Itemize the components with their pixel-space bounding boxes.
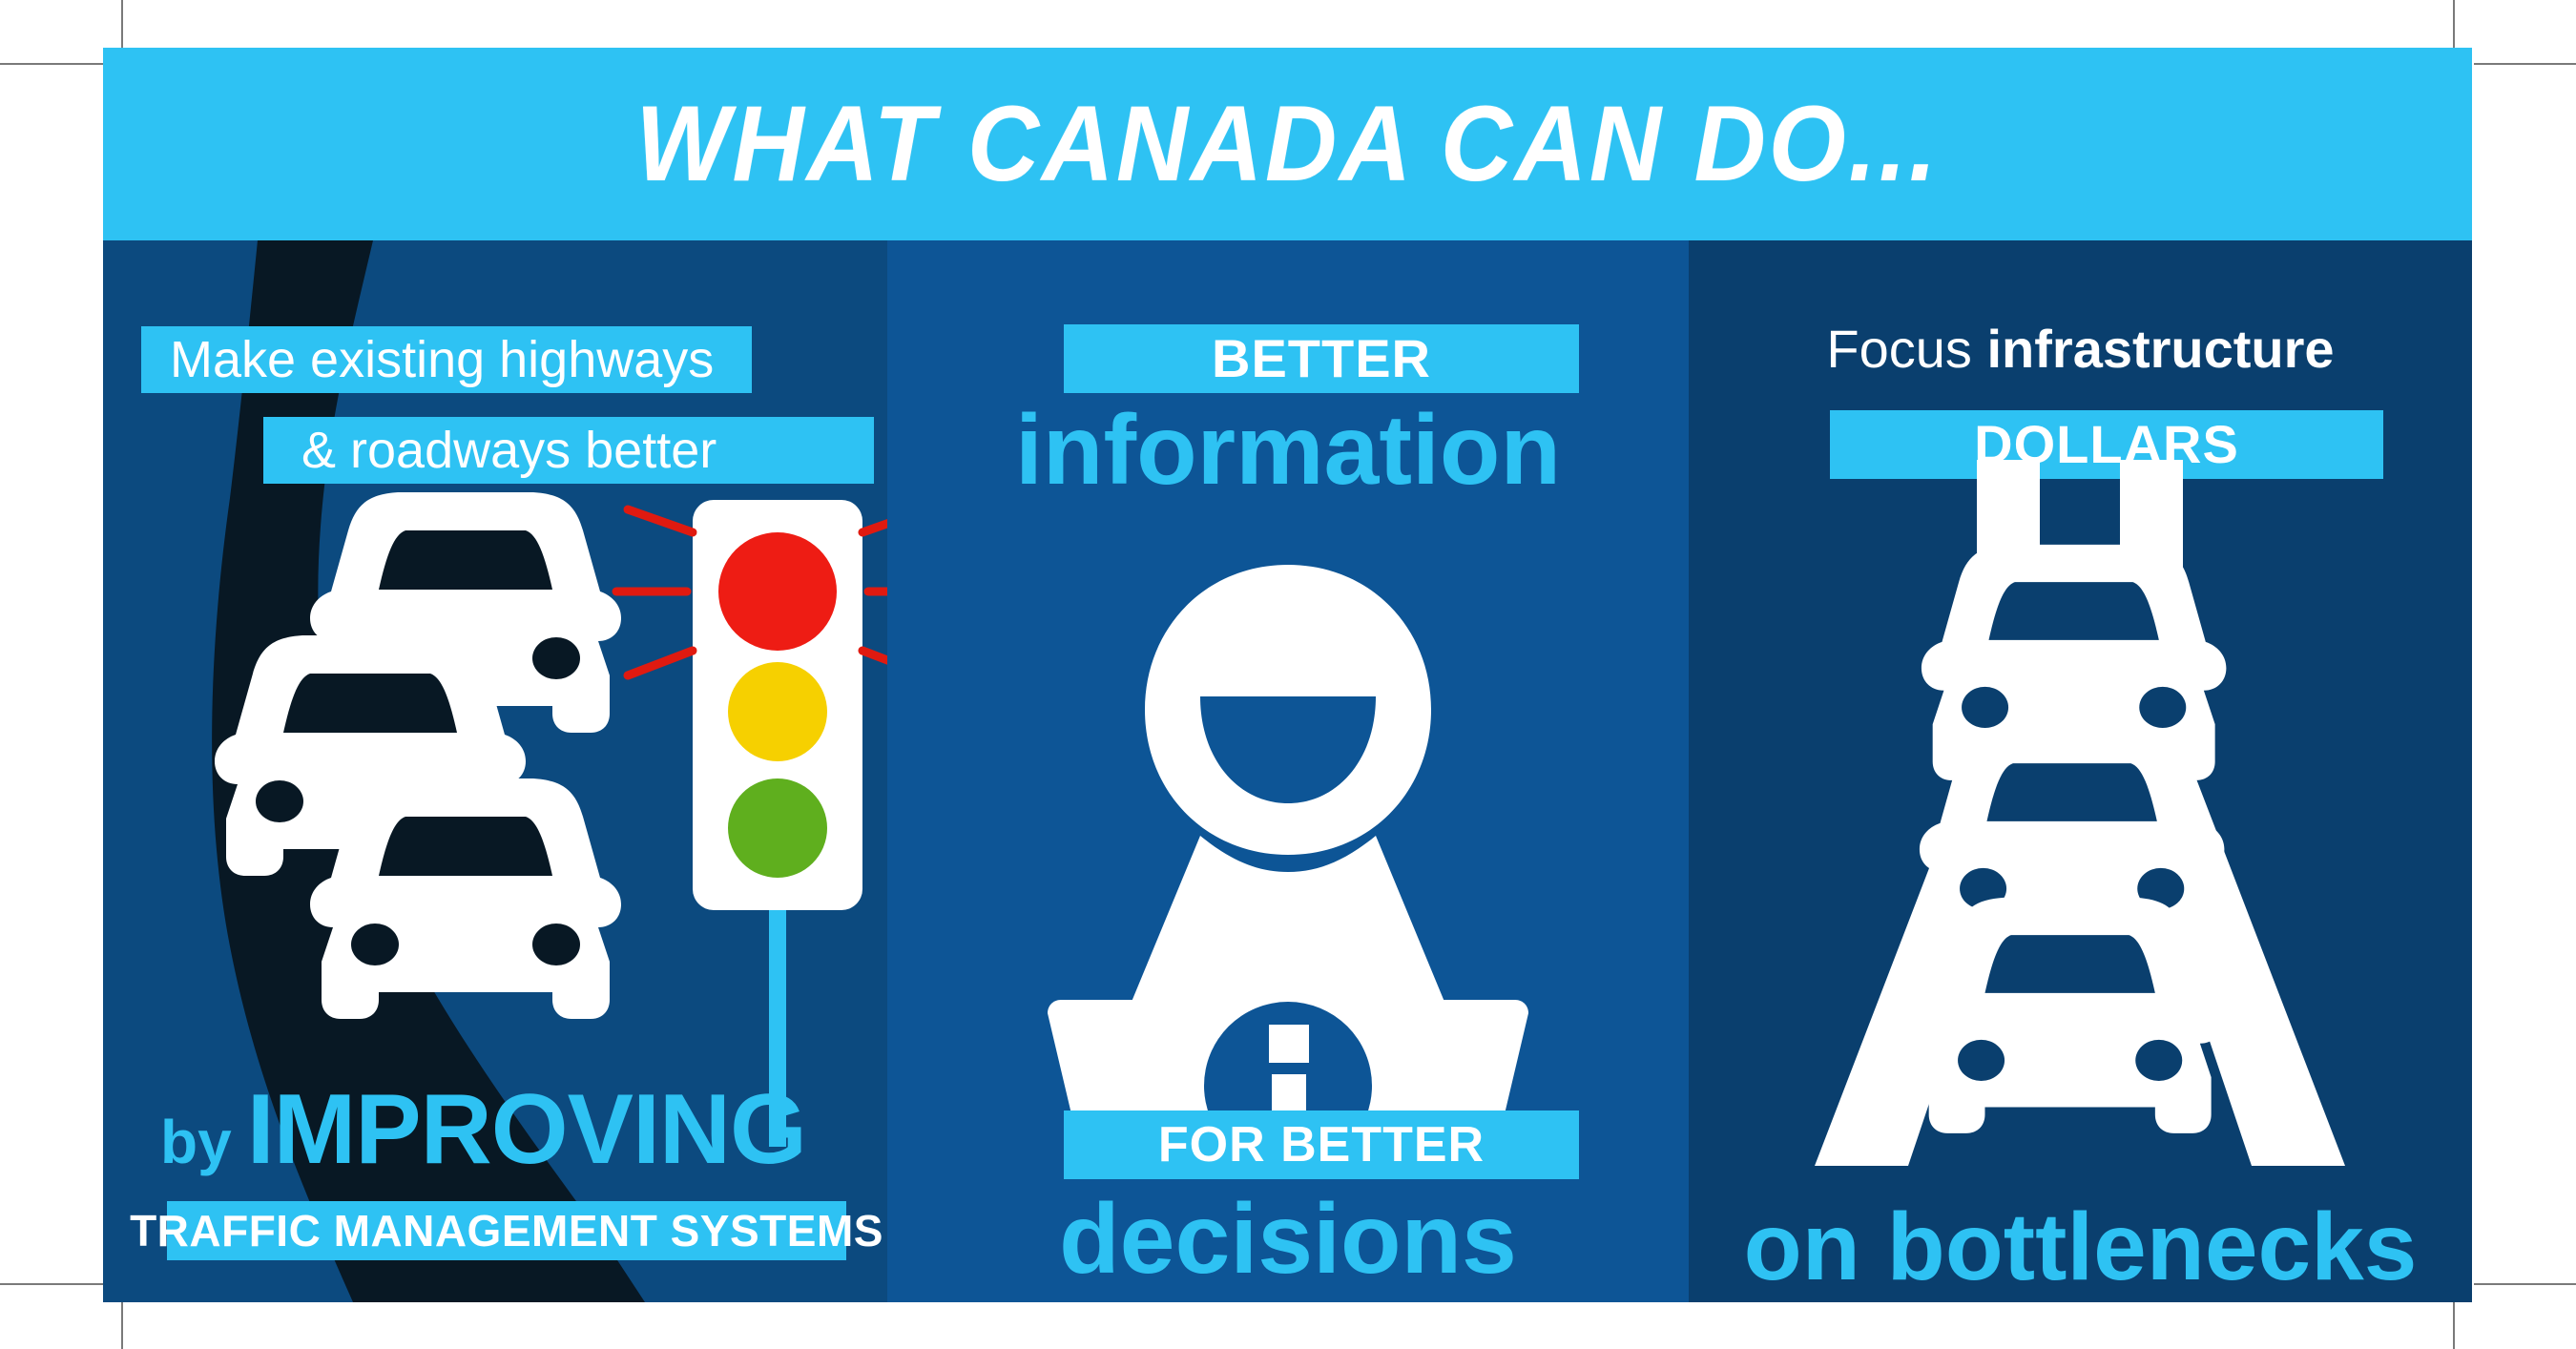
crop-mark-bottom-left-vertical [121,1300,123,1349]
label-focus-infrastructure: Focus infrastructure [1689,322,2472,376]
label-information: information [887,401,1689,500]
page-root: WHAT CANADA CAN DO... [0,0,2576,1349]
person-at-laptop-icon [1040,555,1536,1118]
smiling-face-head [1145,565,1431,855]
header-banner: WHAT CANADA CAN DO... [103,48,2472,240]
label-by-improving: by IMPROVING [160,1080,866,1185]
label-decisions: decisions [887,1190,1689,1289]
traffic-light-icon [609,479,887,1147]
label-infrastructure: infrastructure [1986,319,2334,379]
band-make-existing-highways-label: Make existing highways [170,334,714,385]
crop-mark-top-right-vertical [2453,0,2455,50]
band-roadways-better: & roadways better [263,417,874,484]
road-bottleneck-cars-icon [1803,460,2357,1166]
label-focus-prefix: Focus [1826,319,1986,379]
band-roadways-better-label: & roadways better [301,425,717,476]
label-improving: IMPROVING [247,1080,806,1179]
traffic-light-green-lamp [728,778,827,878]
panel-row: Make existing highways & roadways better… [103,240,2472,1302]
panel-better-information: BETTER information [887,240,1689,1302]
bottleneck-cars [1918,545,2226,1133]
panel-focus-infrastructure-dollars: Focus infrastructure DOLLARS [1689,240,2472,1302]
band-better-label: BETTER [1212,332,1431,385]
infographic-artboard: WHAT CANADA CAN DO... [103,48,2472,1302]
information-i-dot [1269,1025,1309,1063]
traffic-light-red-lamp [718,532,837,651]
band-make-existing-highways: Make existing highways [141,326,752,393]
band-for-better-label: FOR BETTER [1158,1120,1485,1170]
crop-mark-top-right-horizontal [2474,63,2576,65]
crop-mark-top-left-vertical [121,0,123,50]
label-by: by [160,1111,232,1173]
band-traffic-management-systems: TRAFFIC MANAGEMENT SYSTEMS [167,1201,846,1260]
traffic-light-yellow-lamp [728,662,827,761]
label-on-bottlenecks: on bottlenecks [1689,1199,2472,1295]
panel-improve-traffic-management: Make existing highways & roadways better… [103,240,887,1302]
traffic-jam-cars-icon [194,488,661,1023]
band-for-better: FOR BETTER [1064,1110,1579,1179]
band-better: BETTER [1064,324,1579,393]
crop-mark-bottom-right-horizontal [2474,1283,2576,1285]
crop-mark-bottom-left-horizontal [0,1283,105,1285]
crop-mark-bottom-right-vertical [2453,1300,2455,1349]
page-title: WHAT CANADA CAN DO... [635,91,1939,197]
shoulders [1132,836,1444,1002]
band-traffic-management-systems-label: TRAFFIC MANAGEMENT SYSTEMS [130,1209,883,1253]
crop-mark-top-left-horizontal [0,63,105,65]
